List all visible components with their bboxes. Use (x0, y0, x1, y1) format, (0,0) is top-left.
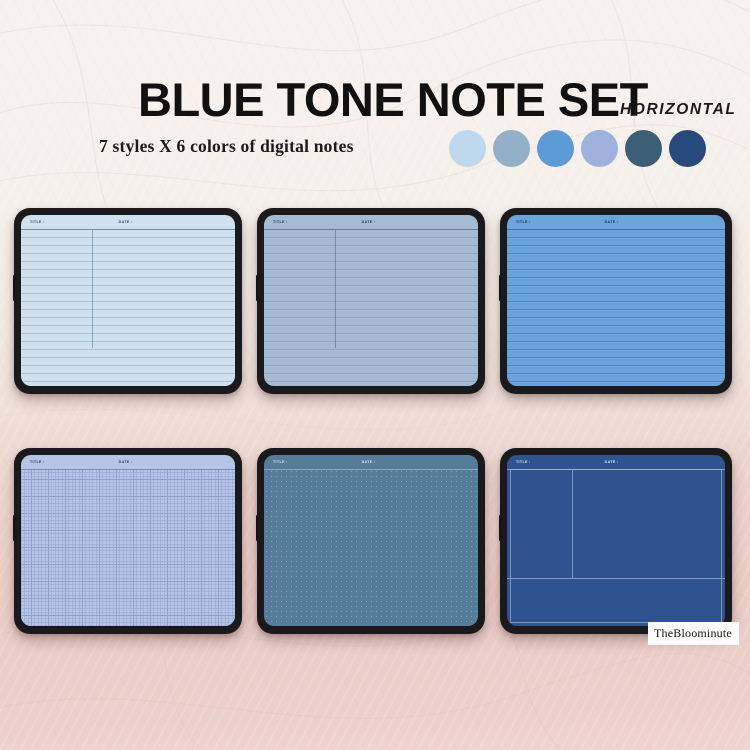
ruled-lines (264, 229, 478, 386)
note-page[interactable]: TITLE :DATE : (507, 215, 725, 386)
header-rule (21, 229, 235, 230)
cue-column-divider (572, 469, 573, 578)
header-rule (264, 469, 478, 470)
header-rule (507, 229, 725, 230)
tablet-graph-periwinkle[interactable]: TITLE :DATE : (14, 448, 242, 634)
swatch-slate-blue (625, 130, 662, 167)
header-rule (507, 469, 725, 470)
ruled-lines (21, 229, 235, 386)
summary-section-rule (507, 578, 725, 579)
watermark: TheBloominute (648, 622, 739, 645)
title-field-label: TITLE : (516, 460, 531, 464)
title-field-label: TITLE : (273, 460, 288, 464)
sheet-header: TITLE :DATE : (264, 455, 478, 469)
sheet-header: TITLE :DATE : (507, 455, 725, 469)
swatch-sky-blue (537, 130, 574, 167)
tablet-lined-pale-blue[interactable]: TITLE :DATE : (14, 208, 242, 394)
date-field-label: DATE : (605, 220, 619, 224)
header: BLUE TONE NOTE SET HORIZONTAL 7 styles X… (0, 0, 750, 196)
date-field-label: DATE : (362, 460, 376, 464)
title-field-label: TITLE : (516, 220, 531, 224)
sheet-header: TITLE :DATE : (507, 215, 725, 229)
column-divider (335, 229, 336, 348)
date-field-label: DATE : (605, 460, 619, 464)
orientation-label: HORIZONTAL (620, 101, 736, 119)
note-page[interactable]: TITLE :DATE : (507, 455, 725, 626)
page-title: BLUE TONE NOTE SET (138, 72, 648, 127)
date-field-label: DATE : (119, 220, 133, 224)
ruled-lines (507, 229, 725, 386)
sheet-header: TITLE :DATE : (21, 215, 235, 229)
color-palette (449, 130, 706, 167)
title-field-label: TITLE : (273, 220, 288, 224)
column-divider (92, 229, 93, 348)
title-field-label: TITLE : (30, 460, 45, 464)
note-page[interactable]: TITLE :DATE : (21, 455, 235, 626)
sheet-header: TITLE :DATE : (21, 455, 235, 469)
page-subtitle: 7 styles X 6 colors of digital notes (99, 136, 354, 157)
swatch-navy-blue (669, 130, 706, 167)
note-page[interactable]: TITLE :DATE : (264, 455, 478, 626)
tablet-lined-dusty-blue[interactable]: TITLE :DATE : (257, 208, 485, 394)
tablet-dotted-slate-blue[interactable]: TITLE :DATE : (257, 448, 485, 634)
page-border (510, 469, 722, 623)
swatch-pale-blue (449, 130, 486, 167)
swatch-dusty-blue (493, 130, 530, 167)
date-field-label: DATE : (362, 220, 376, 224)
tablet-cornell-navy-blue[interactable]: TITLE :DATE : (500, 448, 732, 634)
sheet-header: TITLE :DATE : (264, 215, 478, 229)
dot-grid (264, 469, 478, 626)
header-rule (21, 469, 235, 470)
poster-canvas: BLUE TONE NOTE SET HORIZONTAL 7 styles X… (0, 0, 750, 750)
tablet-lined-sky-blue[interactable]: TITLE :DATE : (500, 208, 732, 394)
note-page[interactable]: TITLE :DATE : (21, 215, 235, 386)
swatch-periwinkle (581, 130, 618, 167)
date-field-label: DATE : (119, 460, 133, 464)
title-field-label: TITLE : (30, 220, 45, 224)
graph-grid (21, 469, 235, 626)
note-page[interactable]: TITLE :DATE : (264, 215, 478, 386)
header-rule (264, 229, 478, 230)
